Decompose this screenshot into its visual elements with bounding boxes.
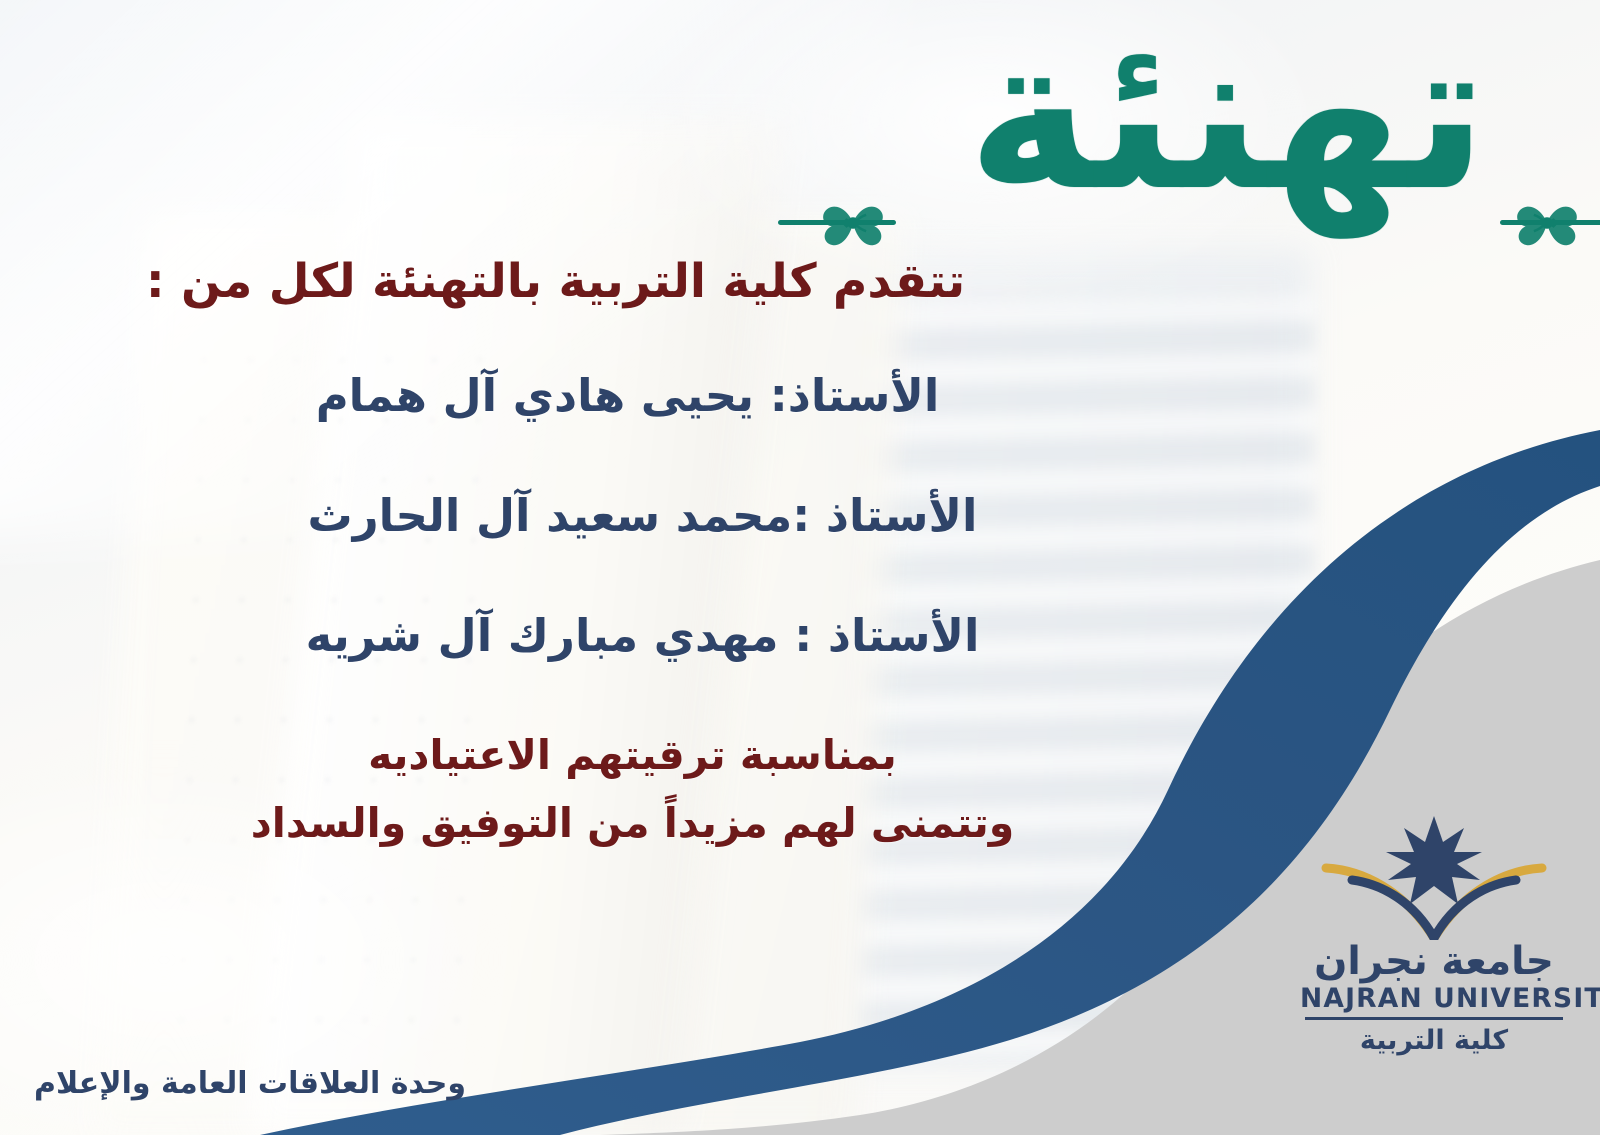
closing-block: بمناسبة ترقيتهم الاعتياديه وتتمنى لهم مز…	[0, 729, 1135, 850]
honoree-1: الأستاذ: يحيى هادي آل همام	[0, 369, 1135, 423]
message-body: تتقدم كلية التربية بالتهنئة لكل من : الأ…	[0, 252, 1135, 864]
congratulation-poster: تهنئة	[0, 0, 1600, 1135]
book-navy-stroke	[1352, 880, 1516, 938]
ornament-rule-left	[778, 220, 896, 225]
logo-star-book-icon	[1300, 812, 1568, 940]
logo-english-name: NAJRAN UNIVERSITY	[1300, 984, 1568, 1013]
honoree-2: الأستاذ :محمد سعيد آل الحارث	[0, 489, 1135, 543]
logo-arabic-name: جامعة نجران	[1300, 942, 1568, 983]
closing-line-1: بمناسبة ترقيتهم الاعتياديه	[130, 729, 1135, 782]
closing-line-2: وتتمنى لهم مزيداً من التوفيق والسداد	[130, 797, 1135, 850]
najran-university-logo: جامعة نجران NAJRAN UNIVERSITY كلية الترب…	[1300, 812, 1568, 1056]
public-relations-unit-label: وحدة العلاقات العامة والإعلام	[34, 1066, 466, 1101]
logo-college-name: كلية التربية	[1300, 1025, 1568, 1056]
honoree-list: الأستاذ: يحيى هادي آل همام الأستاذ :محمد…	[0, 369, 1135, 663]
honoree-3: الأستاذ : مهدي مبارك آل شريه	[0, 609, 1135, 663]
lead-text: تتقدم كلية التربية بالتهنئة لكل من :	[0, 252, 1135, 311]
ornament-rule-right	[1500, 220, 1600, 225]
eight-point-star-icon	[1386, 816, 1482, 904]
calligraphy-tahniah: تهنئة	[967, 8, 1488, 220]
logo-divider	[1305, 1017, 1563, 1020]
